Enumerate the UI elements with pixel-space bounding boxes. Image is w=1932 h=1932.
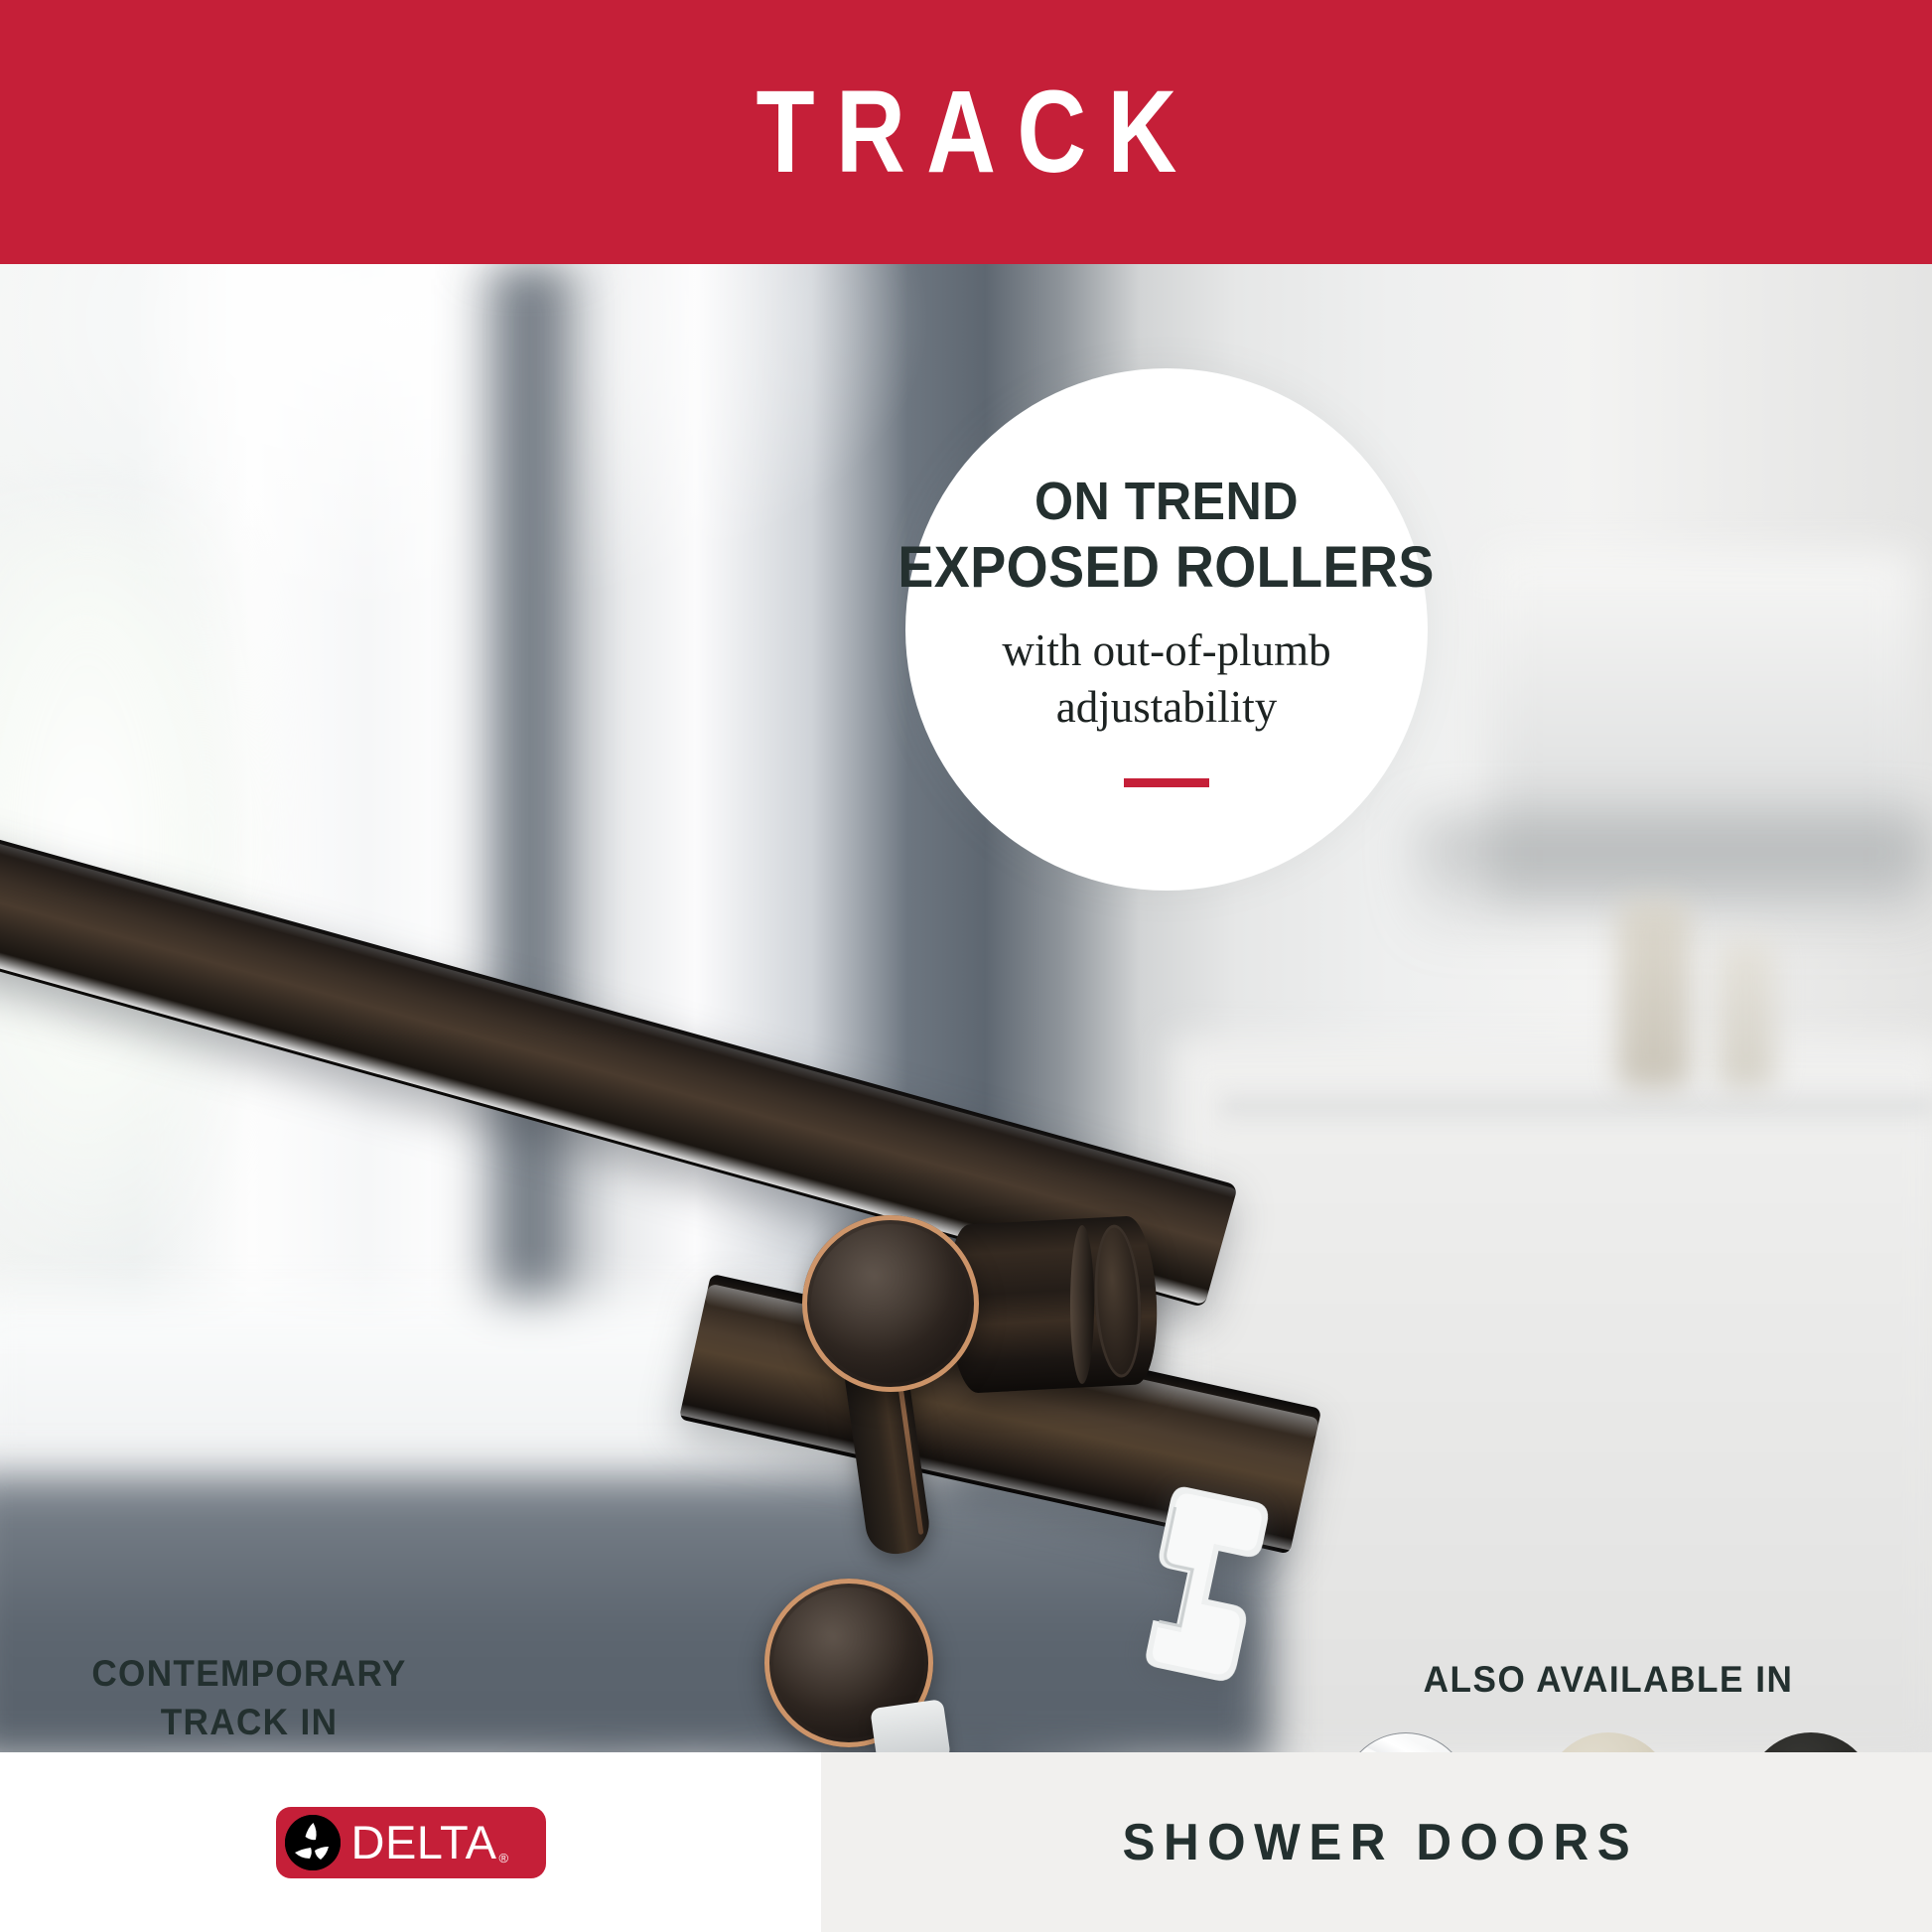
header-banner: TRACK xyxy=(0,0,1932,264)
roller-guide-foot xyxy=(870,1699,951,1752)
product-caption-line2: TRACK IN xyxy=(73,1698,424,1746)
footer-tagline: SHOWER DOORS xyxy=(1114,1813,1638,1872)
footer-left-panel: DELTA ® xyxy=(0,1752,821,1932)
product-caption: CONTEMPORARY TRACK IN BRONZE xyxy=(73,1649,424,1752)
footer-right-panel: SHOWER DOORS xyxy=(821,1752,1932,1932)
feature-callout-badge: ON TREND EXPOSED ROLLERS with out-of-plu… xyxy=(905,368,1428,891)
roller-disc-upper xyxy=(802,1215,979,1392)
registered-mark: ® xyxy=(499,1851,509,1865)
delta-triangle-icon xyxy=(285,1815,341,1870)
finish-options: ALSO AVAILABLE IN CHROME BRUSHED NICKEL xyxy=(1311,1659,1906,1752)
callout-divider-rule xyxy=(1124,778,1209,787)
delta-logo[interactable]: DELTA ® xyxy=(276,1807,546,1878)
product-caption-line1: CONTEMPORARY xyxy=(73,1649,424,1698)
callout-subhead-line2: adjustability xyxy=(1002,679,1330,737)
callout-subhead-line1: with out-of-plumb xyxy=(1002,622,1330,680)
roller-hub-ring xyxy=(1070,1225,1094,1384)
finish-option-brushed-nickel[interactable]: BRUSHED NICKEL xyxy=(1525,1732,1692,1752)
brushed-nickel-swatch-icon xyxy=(1542,1732,1675,1752)
page-title: TRACK xyxy=(735,73,1198,191)
callout-subhead: with out-of-plumb adjustability xyxy=(1002,622,1330,737)
footer: DELTA ® SHOWER DOORS xyxy=(0,1752,1932,1932)
finish-options-heading: ALSO AVAILABLE IN xyxy=(1325,1659,1891,1701)
finish-option-matte-black[interactable]: MATTE BLACK xyxy=(1727,1732,1894,1752)
marketing-graphic: TRACK xyxy=(0,0,1932,1932)
callout-headline-line1: ON TREND xyxy=(1035,472,1299,533)
callout-headline-line2: EXPOSED ROLLERS xyxy=(898,535,1435,601)
delta-wordmark: DELTA xyxy=(351,1819,497,1865)
product-photo: ON TREND EXPOSED ROLLERS with out-of-plu… xyxy=(0,264,1932,1752)
chrome-swatch-icon xyxy=(1339,1732,1472,1752)
finish-option-chrome[interactable]: CHROME xyxy=(1322,1732,1489,1752)
matte-black-swatch-icon xyxy=(1744,1732,1877,1752)
finish-swatch-row: CHROME BRUSHED NICKEL MATTE BLACK xyxy=(1311,1732,1906,1752)
